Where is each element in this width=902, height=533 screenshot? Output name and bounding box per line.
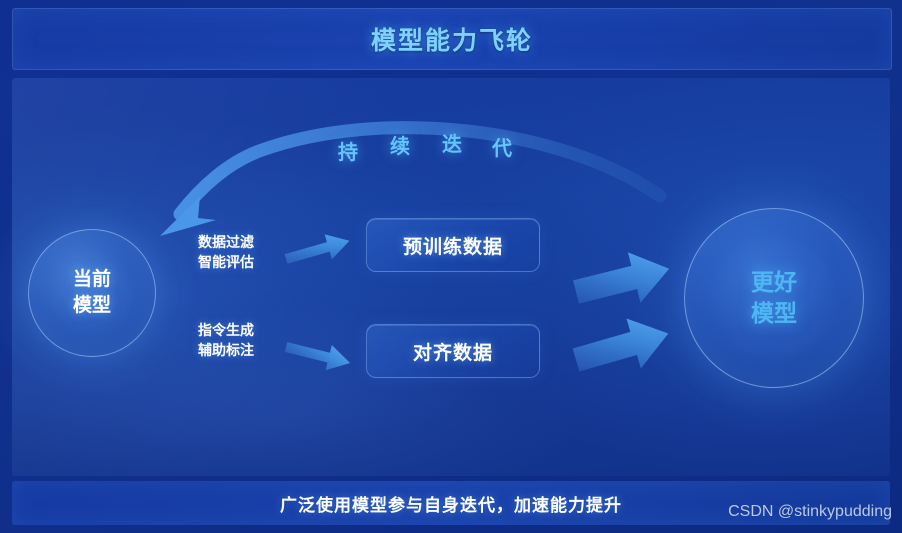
- step-label-instruction-generation: 指令生成 辅助标注: [198, 320, 288, 361]
- step-label-data-filtering-line1: 数据过滤: [198, 232, 288, 252]
- node-current-model-line1: 当前: [73, 267, 111, 293]
- watermark: CSDN @stinkypudding: [728, 503, 892, 521]
- slide-canvas: 模型能力飞轮: [0, 0, 902, 533]
- node-better-model-line2: 模型: [751, 298, 797, 329]
- page-title: 模型能力飞轮: [371, 21, 533, 57]
- node-current-model[interactable]: 当前 模型: [28, 229, 156, 357]
- node-current-model-line2: 模型: [73, 293, 111, 319]
- node-better-model-line1: 更好: [751, 267, 797, 298]
- box-pretrain-data[interactable]: 预训练数据: [366, 218, 540, 272]
- step-label-instruction-generation-line1: 指令生成: [198, 320, 288, 340]
- footer-caption: 广泛使用模型参与自身迭代，加速能力提升: [280, 491, 622, 516]
- step-label-data-filtering-line2: 智能评估: [198, 252, 288, 272]
- header-bar: 模型能力飞轮: [12, 8, 892, 70]
- node-better-model[interactable]: 更好 模型: [684, 208, 864, 388]
- box-alignment-data[interactable]: 对齐数据: [366, 324, 540, 378]
- step-label-data-filtering: 数据过滤 智能评估: [198, 232, 288, 273]
- step-label-instruction-generation-line2: 辅助标注: [198, 340, 288, 360]
